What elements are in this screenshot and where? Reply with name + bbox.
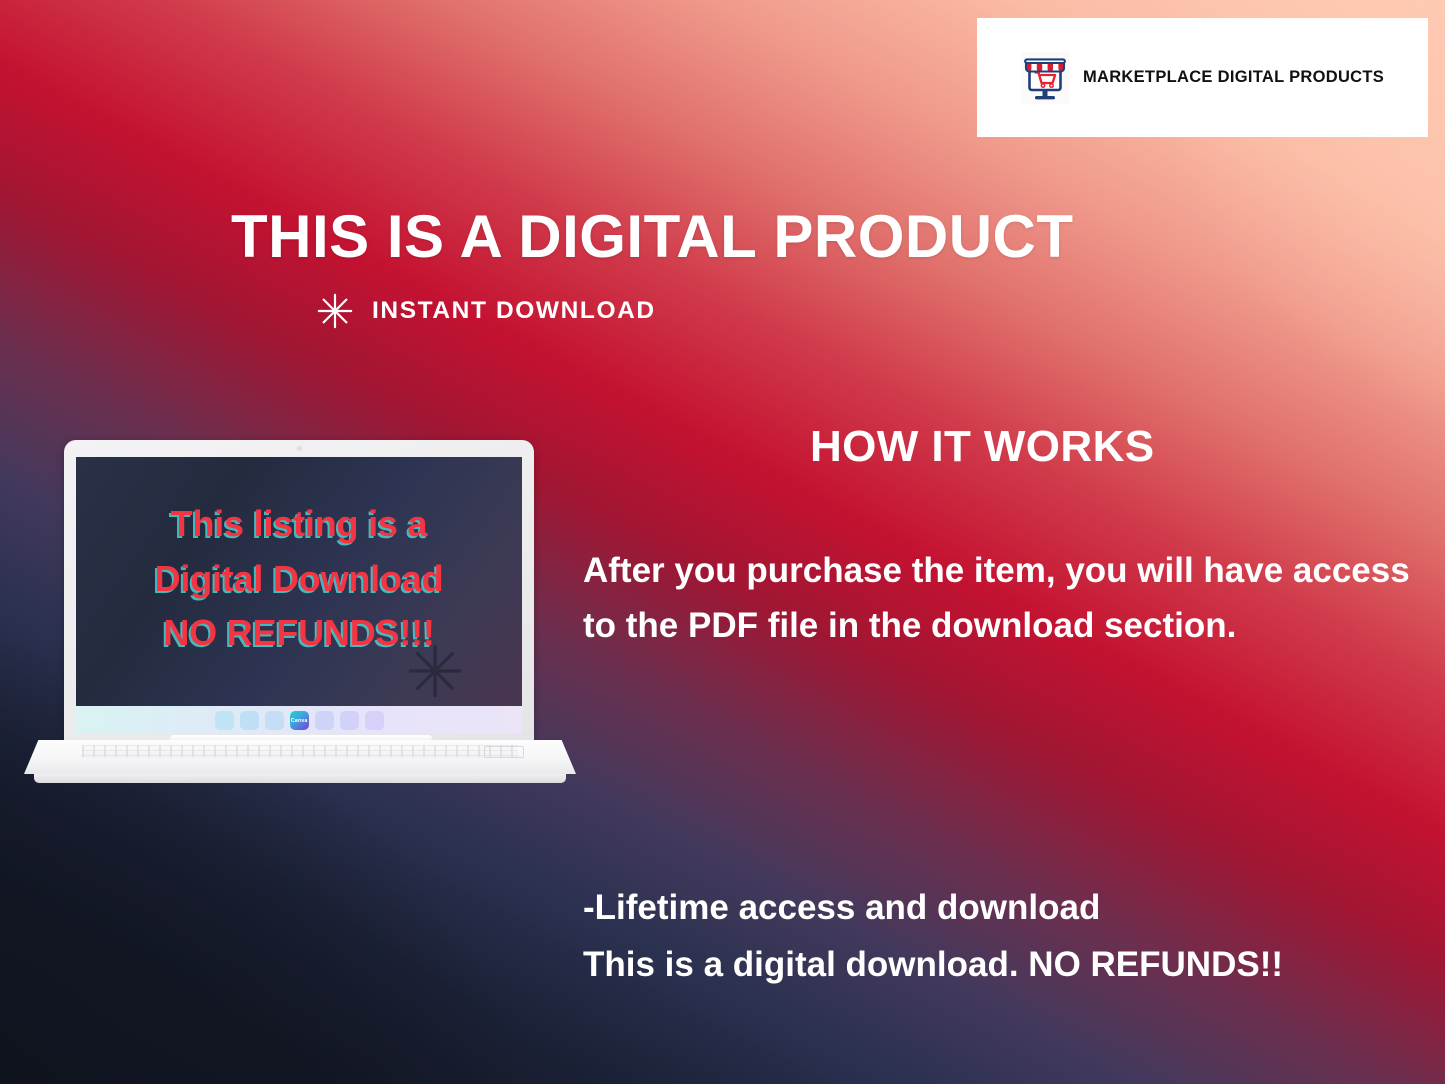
- laptop-dock: Canva: [76, 706, 522, 734]
- laptop-trackpad: [484, 746, 524, 758]
- sparkle-star-icon: [406, 642, 464, 700]
- webcam-dot-icon: [297, 446, 302, 451]
- terms-block: -Lifetime access and download This is a …: [583, 880, 1428, 993]
- dock-app-canva[interactable]: Canva: [290, 711, 309, 730]
- laptop-base-front-edge: [34, 774, 566, 783]
- brand-logo-box: MARKETPLACE DIGITAL PRODUCTS: [977, 18, 1428, 137]
- terms-line-1: -Lifetime access and download: [583, 880, 1428, 937]
- page-title: THIS IS A DIGITAL PRODUCT: [231, 205, 1074, 268]
- laptop-lid: This listing is a Digital Download NO RE…: [64, 440, 534, 745]
- dock-app-7[interactable]: [365, 711, 384, 730]
- screen-line-1: This listing is a: [76, 497, 522, 552]
- dock-app-2[interactable]: [240, 711, 259, 730]
- laptop-keyboard-keys: [82, 745, 518, 757]
- dock-app-1[interactable]: [215, 711, 234, 730]
- dock-app-6[interactable]: [340, 711, 359, 730]
- instant-download-badge: INSTANT DOWNLOAD: [316, 292, 656, 330]
- laptop-base: [24, 740, 576, 787]
- screen-line-2: Digital Download: [76, 552, 522, 607]
- dock-app-3[interactable]: [265, 711, 284, 730]
- laptop-screen: This listing is a Digital Download NO RE…: [76, 457, 522, 706]
- brand-name-label: MARKETPLACE DIGITAL PRODUCTS: [1083, 68, 1384, 87]
- instant-download-label: INSTANT DOWNLOAD: [372, 297, 656, 325]
- laptop-screen-message: This listing is a Digital Download NO RE…: [76, 497, 522, 661]
- how-it-works-body: After you purchase the item, you will ha…: [583, 543, 1428, 654]
- how-it-works-heading: HOW IT WORKS: [810, 422, 1155, 472]
- dock-app-5[interactable]: [315, 711, 334, 730]
- dock-app-canva-label: Canva: [291, 717, 308, 723]
- storefront-shopping-cart-icon: [1021, 52, 1069, 104]
- laptop-illustration: This listing is a Digital Download NO RE…: [24, 440, 576, 810]
- sparkle-star-icon: [316, 292, 354, 330]
- promo-graphic-canvas: MARKETPLACE DIGITAL PRODUCTS THIS IS A D…: [0, 0, 1445, 1084]
- terms-line-2: This is a digital download. NO REFUNDS!!: [583, 937, 1428, 994]
